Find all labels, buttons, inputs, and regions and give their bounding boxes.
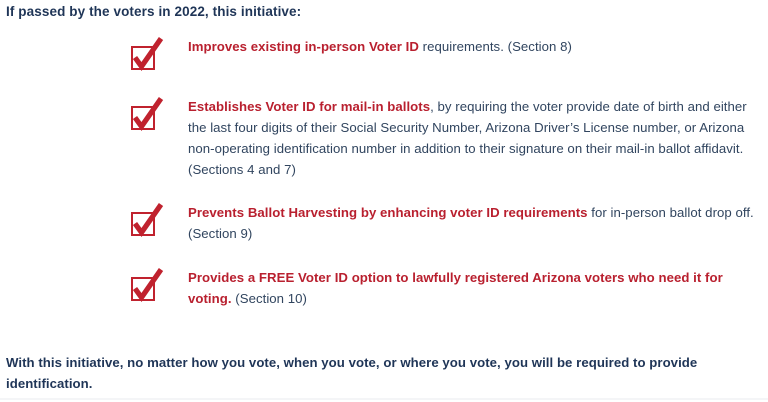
red-checkmark-checkbox-icon [128, 204, 168, 242]
benefit-list: Improves existing in-person Voter ID req… [0, 36, 768, 309]
red-checkmark-checkbox-icon [128, 38, 168, 76]
list-item-lead: Establishes Voter ID for mail-in ballots [188, 99, 430, 114]
list-item: Prevents Ballot Harvesting by enhancing … [0, 202, 768, 244]
list-item-rest: requirements. (Section 8) [419, 39, 572, 54]
list-item-lead: Improves existing in-person Voter ID [188, 39, 419, 54]
list-item-text: Prevents Ballot Harvesting by enhancing … [188, 202, 760, 244]
red-checkmark-checkbox-icon [128, 269, 168, 307]
list-item-text: Establishes Voter ID for mail-in ballots… [188, 96, 760, 180]
list-item-rest: (Section 10) [232, 291, 307, 306]
initiative-summary-page: If passed by the voters in 2022, this in… [0, 0, 768, 402]
footer-statement: With this initiative, no matter how you … [6, 352, 758, 394]
list-item-text: Provides a FREE Voter ID option to lawfu… [188, 267, 760, 309]
page-title: If passed by the voters in 2022, this in… [6, 3, 301, 21]
list-item: Improves existing in-person Voter ID req… [0, 36, 768, 76]
bottom-divider [0, 398, 768, 400]
list-item-text: Improves existing in-person Voter ID req… [188, 36, 760, 57]
list-item-lead: Prevents Ballot Harvesting by enhancing … [188, 205, 588, 220]
list-item: Provides a FREE Voter ID option to lawfu… [0, 267, 768, 309]
list-item: Establishes Voter ID for mail-in ballots… [0, 96, 768, 180]
red-checkmark-checkbox-icon [128, 98, 168, 136]
